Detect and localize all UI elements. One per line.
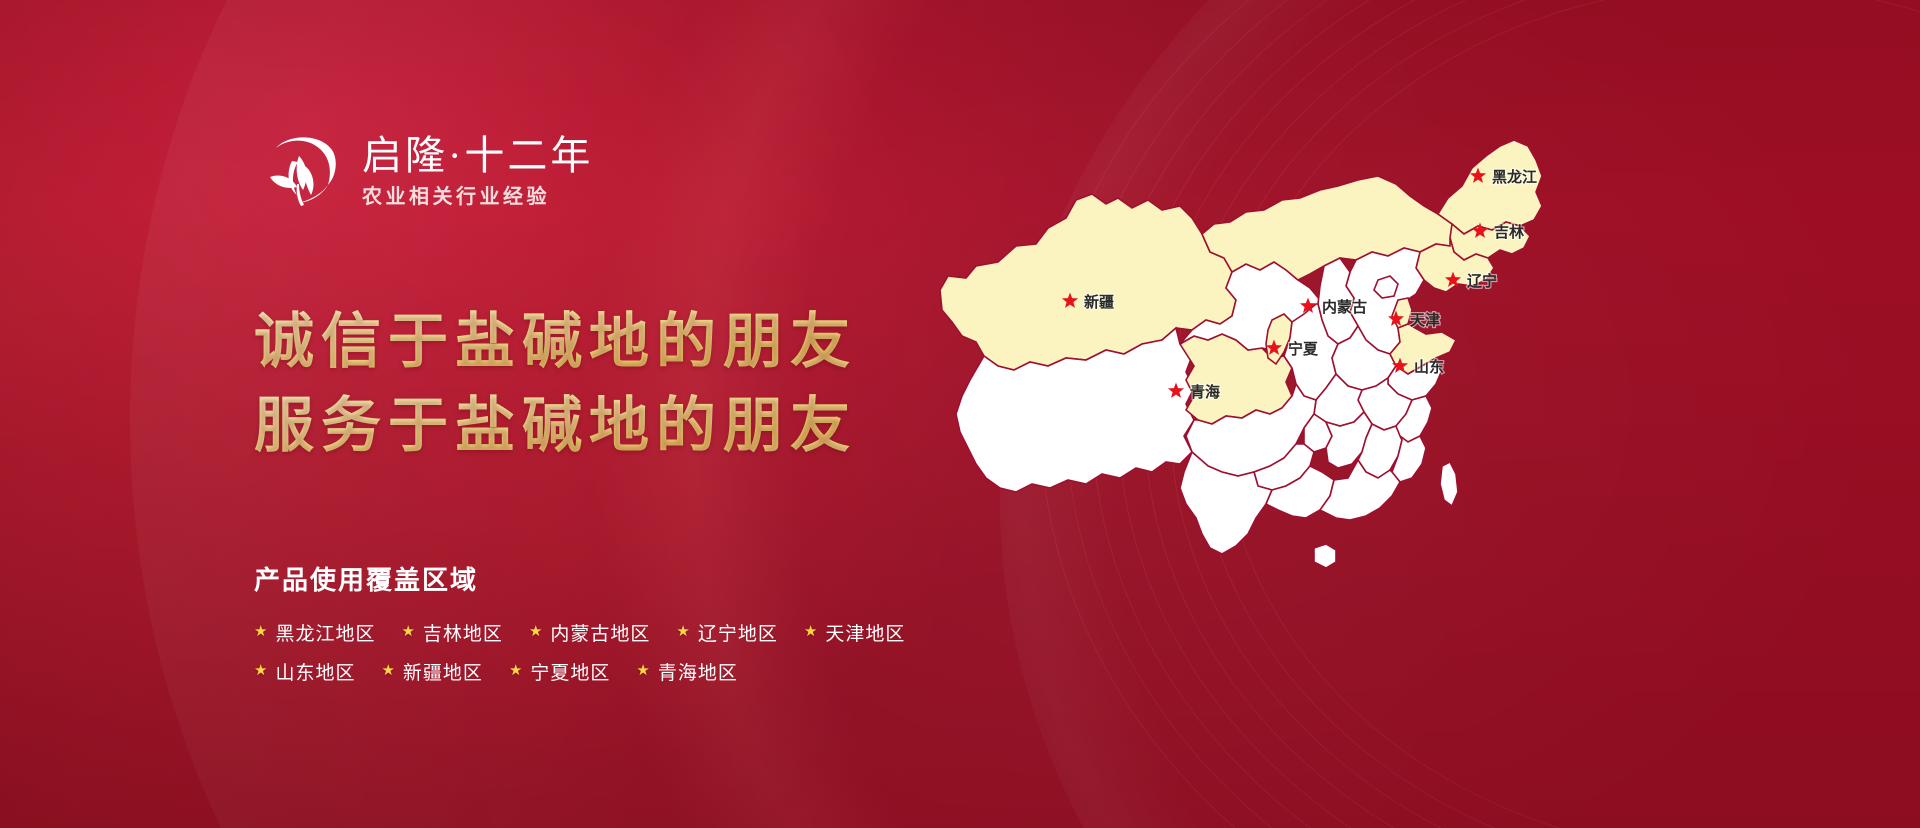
coverage-region-label: 宁夏地区 [530, 658, 610, 685]
coverage-region-item[interactable]: ★青海地区 [636, 658, 737, 685]
coverage-region-item[interactable]: ★黑龙江地区 [254, 619, 375, 646]
left-content: 启隆·十二年 农业相关行业经验 诚信于盐碱地的朋友 服务于盐碱地的朋友 产品使用… [0, 0, 900, 828]
map-label-heilongjiang: 黑龙江 [1492, 168, 1537, 186]
map-label-shandong: 山东 [1414, 358, 1444, 376]
map-label-neimenggu: 内蒙古 [1322, 298, 1367, 316]
brand-lockup: 启隆·十二年 农业相关行业经验 [258, 128, 593, 212]
star-icon: ★ [804, 625, 817, 640]
star-icon: ★ [254, 664, 267, 679]
headline-block: 诚信于盐碱地的朋友 服务于盐碱地的朋友 [254, 300, 857, 468]
map-label-jilin: 吉林 [1494, 223, 1525, 241]
star-icon: ★ [509, 664, 522, 679]
map-label-qinghai: 青海 [1190, 383, 1220, 401]
coverage-region-label: 吉林地区 [423, 619, 503, 646]
map-label-ningxia: 宁夏 [1288, 340, 1319, 358]
coverage-region-label: 辽宁地区 [698, 619, 778, 646]
province-taiwan [1440, 462, 1458, 506]
coverage-region-item[interactable]: ★内蒙古地区 [529, 619, 650, 646]
coverage-block: 产品使用覆盖区域 ★黑龙江地区★吉林地区★内蒙古地区★辽宁地区★天津地区★山东地… [254, 560, 931, 697]
star-icon: ★ [676, 625, 689, 640]
china-map-svg: 黑龙江吉林辽宁内蒙古天津山东宁夏新疆青海 [880, 48, 1620, 688]
coverage-region-label: 青海地区 [658, 658, 738, 685]
brand-subtitle: 农业相关行业经验 [362, 186, 593, 208]
star-icon: ★ [529, 625, 542, 640]
coverage-region-item[interactable]: ★吉林地区 [401, 619, 502, 646]
headline-line-2: 服务于盐碱地的朋友 [254, 384, 857, 468]
coverage-region-row: ★山东地区★新疆地区★宁夏地区★青海地区 [254, 658, 931, 685]
province-heilongjiang [1438, 140, 1542, 234]
coverage-title: 产品使用覆盖区域 [254, 560, 931, 597]
china-coverage-map: 黑龙江吉林辽宁内蒙古天津山东宁夏新疆青海 [880, 48, 1620, 688]
lotus-leaf-circle-icon [258, 128, 342, 212]
coverage-region-item[interactable]: ★宁夏地区 [509, 658, 610, 685]
map-label-liaoning: 辽宁 [1467, 272, 1497, 290]
coverage-region-item[interactable]: ★山东地区 [254, 658, 355, 685]
coverage-region-row: ★黑龙江地区★吉林地区★内蒙古地区★辽宁地区★天津地区 [254, 619, 931, 646]
banner-root: 启隆·十二年 农业相关行业经验 诚信于盐碱地的朋友 服务于盐碱地的朋友 产品使用… [0, 0, 1920, 828]
headline-line-1: 诚信于盐碱地的朋友 [254, 300, 857, 384]
coverage-region-label: 内蒙古地区 [550, 619, 650, 646]
province-beijing [1374, 276, 1398, 298]
map-provinces [940, 140, 1542, 568]
coverage-region-item[interactable]: ★辽宁地区 [676, 619, 777, 646]
map-label-tianjin: 天津 [1410, 311, 1440, 329]
star-icon: ★ [401, 625, 414, 640]
coverage-region-label: 山东地区 [275, 658, 355, 685]
coverage-region-label: 新疆地区 [403, 658, 483, 685]
coverage-region-label: 黑龙江地区 [275, 619, 375, 646]
map-label-xinjiang: 新疆 [1084, 293, 1114, 311]
brand-name: 启隆·十二年 [362, 134, 593, 177]
province-hainan [1314, 544, 1336, 568]
star-icon: ★ [636, 664, 649, 679]
coverage-region-list: ★黑龙江地区★吉林地区★内蒙古地区★辽宁地区★天津地区★山东地区★新疆地区★宁夏… [254, 619, 931, 685]
star-icon: ★ [381, 664, 394, 679]
coverage-region-item[interactable]: ★新疆地区 [381, 658, 482, 685]
star-icon: ★ [254, 625, 267, 640]
